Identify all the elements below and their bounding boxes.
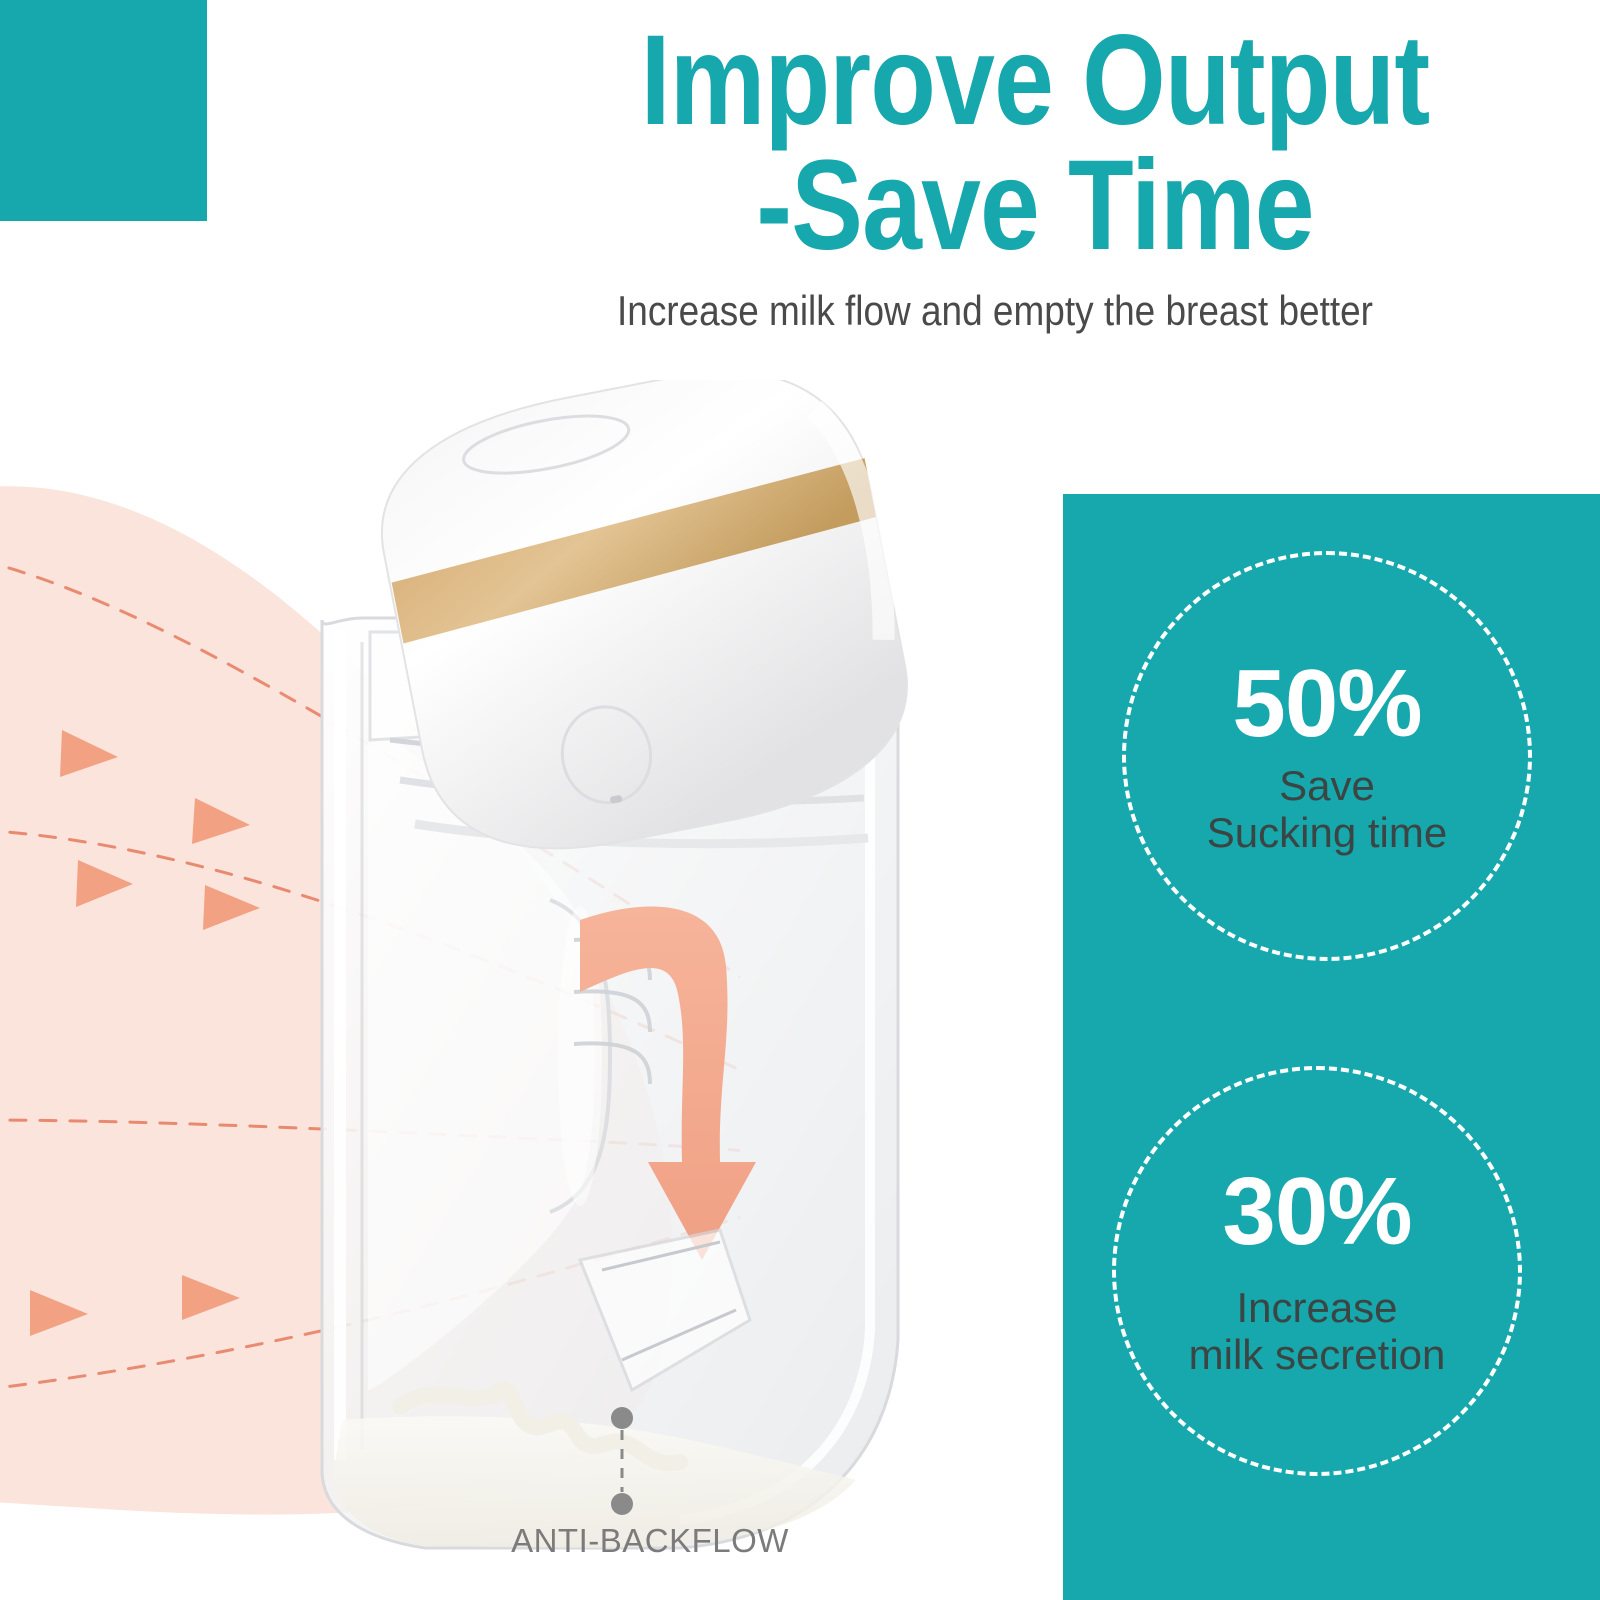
corner-accent-block [0,0,207,221]
stat-card-increase-milk-secretion: 30% Increase milk secretion [1112,1066,1522,1476]
callout-end-dot [611,1493,633,1515]
title-line-2: -Save Time [569,143,1501,268]
stat-card-save-sucking-time: 50% Save Sucking time [1122,551,1532,961]
callout-anchor-dot [611,1407,633,1429]
infographic-canvas: Improve Output -Save Time Increase milk … [0,0,1600,1600]
stat-caption-1: Save Sucking time [1207,762,1447,856]
anti-backflow-callout: ANTI-BACKFLOW [420,1400,880,1600]
title-line-1: Improve Output [569,18,1501,143]
stat-caption-2: Increase milk secretion [1189,1284,1446,1378]
page-title: Improve Output -Save Time [480,18,1590,269]
breast-pump-product-image [250,380,1010,1560]
page-subtitle: Increase milk flow and empty the breast … [471,288,1518,334]
stat-percent-1: 50% [1232,656,1421,752]
anti-backflow-label: ANTI-BACKFLOW [420,1522,880,1560]
stat-percent-2: 30% [1222,1164,1411,1260]
